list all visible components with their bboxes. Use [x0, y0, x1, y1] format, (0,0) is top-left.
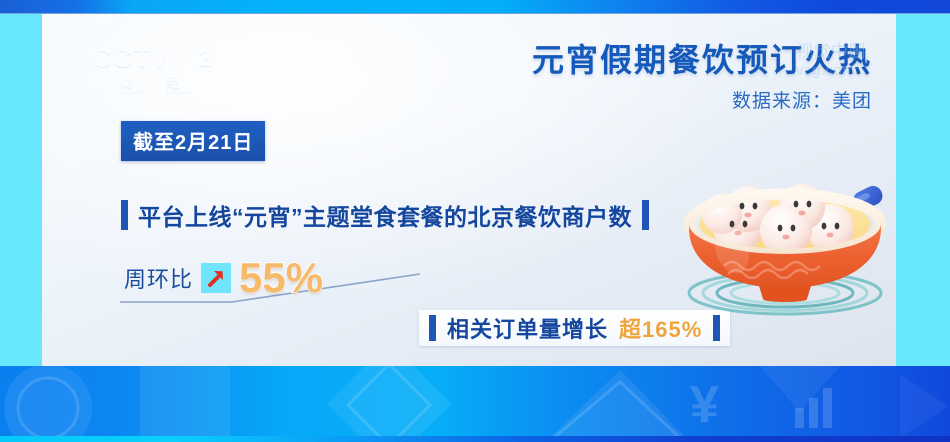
headline-block: 元宵假期餐饮预订火热 数据来源：美团: [532, 40, 872, 113]
cctv-logo-text: CCTV: [92, 43, 170, 73]
cctv2-channel-logo: CCTV 2 财 FINANCE 经 CHANNEL: [92, 42, 222, 104]
yuan-currency-icon: ¥: [690, 376, 719, 434]
cctv-logo-sub-right: 经 CHANNEL: [166, 76, 192, 95]
main-stage: CCTV 2 财 FINANCE 经 CHANNEL 元宵假期餐饮预订火热 数据…: [42, 14, 896, 366]
data-source-label: 数据来源：美团: [532, 86, 872, 113]
left-cyan-rail: [0, 14, 42, 366]
metric-value: 55%: [239, 256, 323, 300]
arrow-up-right-icon: [201, 263, 231, 293]
tangyuan-bowl-illustration: [662, 162, 896, 317]
top-gradient-band: [0, 0, 950, 13]
order-badge-left-bar: [429, 315, 436, 341]
metric-row: 周环比 55%: [124, 256, 323, 300]
bottom-decorative-band: ¥: [0, 366, 950, 442]
statement-row: 平台上线“元宵”主题堂食套餐的北京餐饮商户数: [121, 198, 649, 232]
right-cyan-rail: [896, 14, 950, 366]
bottom-accent-strip: [0, 436, 950, 442]
date-badge: 截至2月21日: [121, 121, 265, 161]
bowl-foot: [759, 286, 811, 302]
page-title: 元宵假期餐饮预订火热: [532, 40, 872, 80]
cctv-logo-sub-left: 财 FINANCE: [120, 76, 144, 95]
order-badge-label: 相关订单量增长: [447, 312, 608, 344]
statement-text: 平台上线“元宵”主题堂食套餐的北京餐饮商户数: [138, 198, 632, 232]
broadcast-graphic: CCTV 2 财 FINANCE 经 CHANNEL 元宵假期餐饮预订火热 数据…: [0, 0, 950, 442]
order-badge-right-bar: [713, 315, 720, 341]
statement-right-bar: [642, 200, 649, 230]
svg-text:¥: ¥: [690, 376, 719, 434]
bottom-band-shapes: ¥: [0, 366, 950, 442]
cctv-logo-number: 2: [188, 42, 222, 74]
statement-left-bar: [121, 200, 128, 230]
metric-label: 周环比: [124, 262, 193, 294]
